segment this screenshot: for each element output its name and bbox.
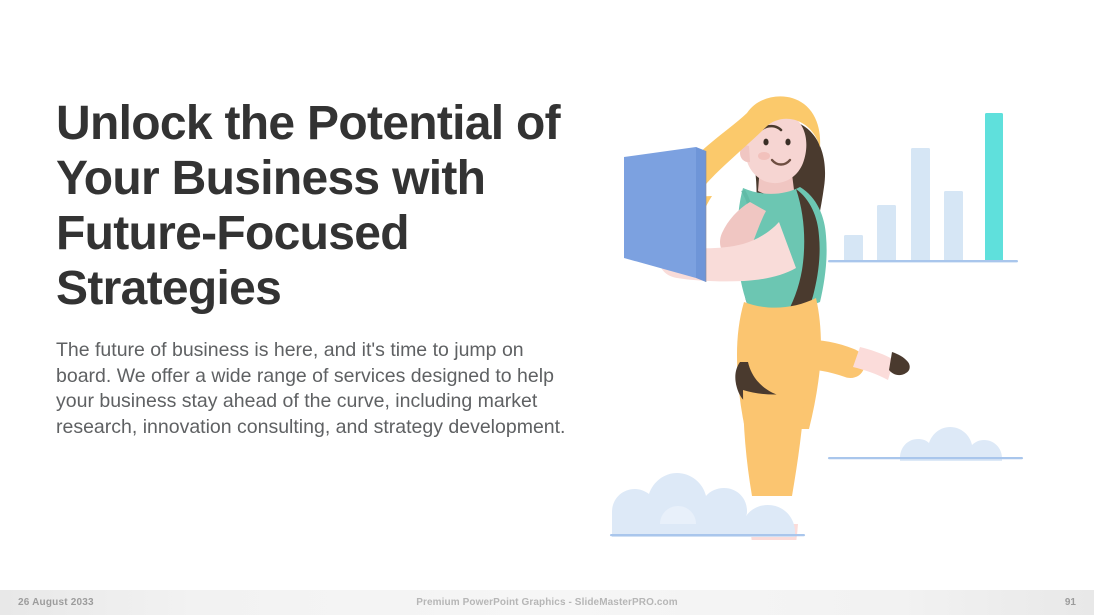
hero-illustration [600, 90, 1040, 540]
tablet-inner-panel [696, 147, 706, 282]
character-woman [624, 96, 910, 540]
chart-bar-3 [911, 148, 930, 261]
eye-left [763, 139, 768, 146]
eye-right [785, 139, 790, 146]
bar-chart-graphic [828, 113, 1018, 262]
bush-right [900, 427, 1002, 461]
cheek [758, 152, 770, 160]
chart-bar-5-highlight [985, 113, 1003, 261]
ground-line-right-group [828, 427, 1023, 461]
slide-footer: 26 August 2033 Premium PowerPoint Graphi… [0, 590, 1094, 615]
ground-line-bottom [610, 534, 805, 536]
footer-page-number: 91 [1065, 597, 1076, 608]
ground-line-right [828, 457, 1023, 459]
chart-bar-4 [944, 191, 963, 261]
tablet-blue [624, 147, 706, 282]
shoe-raised [889, 352, 910, 375]
chart-axis-line [828, 260, 1018, 262]
tablet-face [624, 147, 696, 278]
chart-bar-1 [844, 235, 863, 261]
body-paragraph: The future of business is here, and it's… [56, 316, 576, 440]
text-content-block: Unlock the Potential of Your Business wi… [56, 96, 586, 440]
presentation-slide: Unlock the Potential of Your Business wi… [0, 0, 1094, 615]
footer-branding: Premium PowerPoint Graphics - SlideMaste… [0, 597, 1094, 608]
chart-bar-2 [877, 205, 896, 261]
page-title: Unlock the Potential of Your Business wi… [56, 96, 586, 316]
leg-standing [743, 390, 805, 496]
